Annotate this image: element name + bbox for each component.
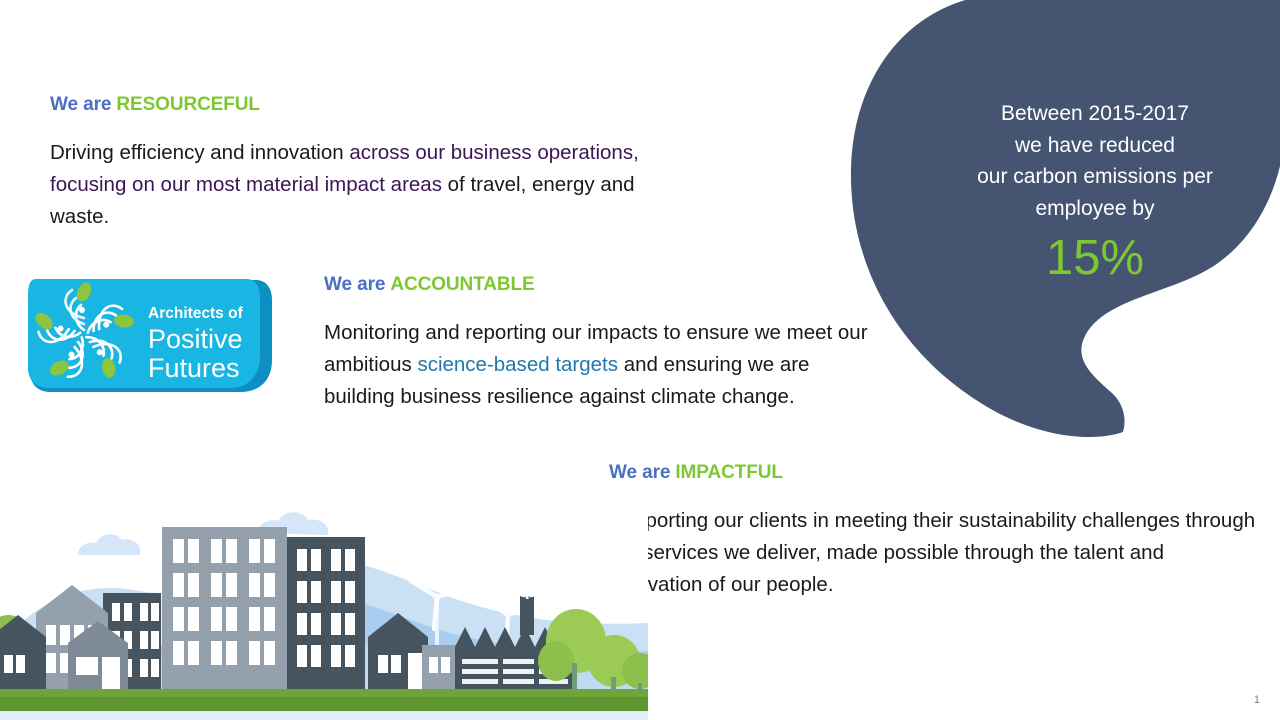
sustainable-city-illustration	[0, 495, 648, 720]
body-run-2: science-based targets	[417, 353, 618, 376]
body-accountable: Monitoring and reporting our impacts to …	[324, 317, 884, 413]
body-resourceful: Driving efficiency and innovation across…	[50, 137, 650, 233]
slide-canvas: Between 2015-2017 we have reduced our ca…	[0, 0, 1280, 720]
body-impactful: Supporting our clients in meeting their …	[609, 505, 1259, 601]
callout-statistic: 15%	[930, 230, 1260, 286]
building-tower-dark	[287, 537, 365, 691]
heading-resourceful: We areRESOURCEFUL	[50, 94, 650, 116]
heading-keyword: ACCOUNTABLE	[390, 274, 534, 295]
callout-line-1: Between 2015-2017	[930, 98, 1260, 130]
logo-svg: Architects of Positive Futures	[24, 276, 274, 396]
logo-line-3: Futures	[148, 353, 240, 383]
heading-prefix: We are	[609, 462, 670, 483]
city-svg	[0, 495, 648, 720]
logo-line-2: Positive	[148, 324, 243, 354]
architects-of-positive-futures-logo: Architects of Positive Futures	[24, 276, 274, 396]
heading-keyword: IMPACTFUL	[675, 462, 782, 483]
callout-line-4: employee by	[930, 193, 1260, 225]
heading-impactful: We areIMPACTFUL	[609, 462, 1259, 484]
building-tower-grey	[162, 527, 287, 691]
heading-accountable: We areACCOUNTABLE	[324, 274, 884, 296]
section-resourceful: We areRESOURCEFUL Driving efficiency and…	[50, 94, 650, 253]
body-run-1: Driving efficiency and innovation	[50, 141, 349, 164]
callout-text: Between 2015-2017 we have reduced our ca…	[930, 98, 1260, 224]
section-impactful: We areIMPACTFUL Supporting our clients i…	[609, 462, 1259, 621]
callout-line-3: our carbon emissions per	[930, 161, 1260, 193]
logo-line-1: Architects of	[148, 305, 244, 322]
page-number: 1	[1254, 694, 1260, 706]
callout-line-2: we have reduced	[930, 130, 1260, 162]
house-light-right	[422, 645, 460, 691]
heading-prefix: We are	[50, 94, 111, 115]
ground-baseline	[0, 711, 648, 720]
section-accountable: We areACCOUNTABLE Monitoring and reporti…	[324, 274, 884, 433]
ground-lower	[0, 697, 648, 711]
heading-keyword: RESOURCEFUL	[116, 94, 260, 115]
ground-upper	[0, 689, 648, 697]
heading-prefix: We are	[324, 274, 385, 295]
